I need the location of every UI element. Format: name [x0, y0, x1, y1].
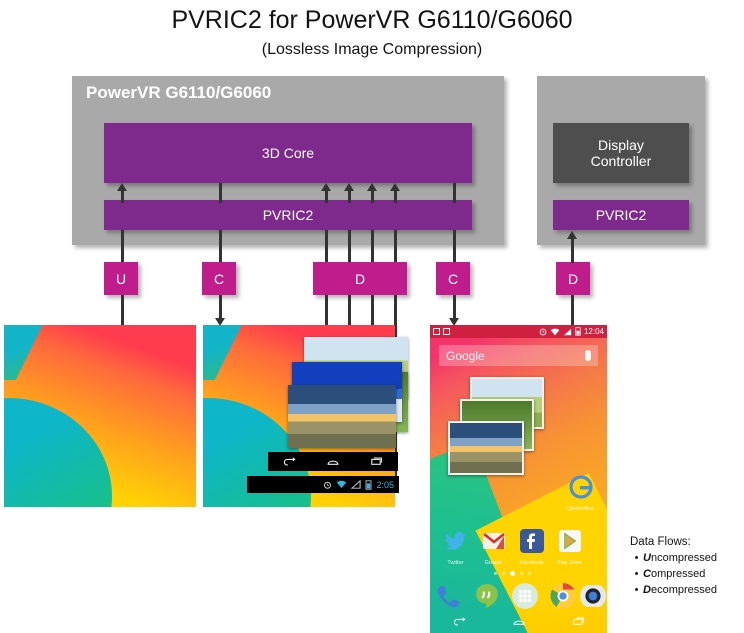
- back-icon[interactable]: [283, 456, 297, 467]
- battery-icon: [365, 480, 372, 490]
- arrowhead-core-d2: [344, 183, 354, 191]
- app-facebook[interactable]: Facebook: [518, 529, 545, 566]
- tablet-nav-bar[interactable]: [268, 452, 398, 471]
- mail-icon: [443, 328, 450, 335]
- arrowhead-core-d1: [321, 183, 331, 191]
- microphone-icon[interactable]: [585, 350, 591, 361]
- page-subtitle: (Lossless Image Compression): [0, 41, 744, 59]
- phone-status-notifications: [433, 328, 450, 335]
- connector-d2-down: [348, 230, 351, 262]
- chrome-icon[interactable]: [550, 583, 576, 609]
- block-display-controller[interactable]: Display Controller: [553, 123, 689, 183]
- arrowhead-core-u: [117, 183, 127, 191]
- flow-badge-d2[interactable]: D: [556, 262, 590, 295]
- flow-badge-c2-label: C: [448, 271, 458, 287]
- flow-badge-d1-label: D: [355, 271, 365, 287]
- legend-initial-u: U: [643, 552, 651, 564]
- flow-badge-u[interactable]: U: [104, 262, 138, 295]
- play-store-icon: [558, 529, 582, 553]
- arrowhead-core-d4: [390, 183, 400, 191]
- connector-d2-display: [571, 239, 574, 263]
- connector-c2-down: [453, 230, 456, 262]
- page-dot: [520, 572, 523, 575]
- flow-badge-d1[interactable]: D: [313, 262, 407, 295]
- flow-badge-u-label: U: [116, 271, 126, 287]
- block-pvric2-display[interactable]: PVRIC2: [553, 200, 689, 230]
- legend-rest-d: ecompressed: [651, 584, 717, 596]
- connector-d1-down: [325, 230, 328, 262]
- page-dot-active: [510, 571, 515, 576]
- page-dot: [502, 572, 505, 575]
- legend-bullet: •: [630, 582, 643, 598]
- legend: Data Flows: • Uncompressed • Compressed …: [630, 536, 744, 598]
- connector-core-d3: [371, 191, 374, 203]
- app-twitter-label: Twitter: [442, 560, 469, 566]
- signal-icon: [351, 480, 361, 489]
- legend-item-compressed: • Compressed: [630, 566, 744, 582]
- arrowhead-core-d3: [367, 183, 377, 191]
- wifi-icon: [336, 480, 347, 489]
- flow-badge-c1[interactable]: C: [202, 262, 236, 295]
- block-pvric2-display-label: PVRIC2: [596, 207, 647, 223]
- soc-label: PowerVR G6110/G6060: [86, 83, 271, 103]
- block-3d-core-label: 3D Core: [262, 145, 314, 161]
- alarm-icon: [323, 480, 332, 489]
- alarm-icon: [539, 328, 547, 336]
- wifi-icon: [550, 328, 560, 336]
- phone-status-icons: 12:04: [539, 327, 604, 336]
- connector-core-c2: [453, 183, 456, 203]
- signal-icon: [563, 328, 572, 336]
- home-icon[interactable]: [512, 616, 526, 627]
- camera-icon[interactable]: [580, 583, 606, 609]
- page-dot: [494, 572, 497, 575]
- home-icon[interactable]: [326, 456, 340, 467]
- diagram-canvas: PVRIC2 for PowerVR G6110/G6060 (Lossless…: [0, 0, 744, 633]
- connector-d2-phone: [571, 295, 574, 325]
- block-3d-core[interactable]: 3D Core: [104, 123, 472, 183]
- tablet-status-time: 2:05: [376, 480, 394, 490]
- facebook-icon: [520, 529, 544, 553]
- quickoffice-icon: [569, 475, 593, 499]
- connector-u-down: [121, 230, 124, 262]
- app-drawer-icon[interactable]: [512, 583, 538, 609]
- legend-initial-d: D: [643, 584, 651, 596]
- google-search-label: Google: [446, 349, 485, 363]
- connector-core-u: [121, 191, 124, 203]
- phone-nav-bar[interactable]: [430, 609, 607, 633]
- twitter-icon: [444, 529, 468, 553]
- connector-core-d1: [325, 191, 328, 203]
- app-twitter[interactable]: Twitter: [442, 529, 469, 566]
- battery-icon: [575, 327, 581, 336]
- connector-u-device: [121, 295, 124, 327]
- legend-bullet: •: [630, 550, 643, 566]
- phone-home-screen[interactable]: 12:04 Google Quickoffice Twitter: [430, 325, 607, 633]
- connector-c2-device: [453, 295, 456, 318]
- app-google[interactable]: Google: [480, 529, 507, 566]
- connector-c1-device: [219, 295, 222, 318]
- tablet-status-bar: 2:05: [247, 476, 399, 493]
- connector-d4-down: [394, 230, 397, 262]
- app-google-label: Google: [480, 560, 507, 566]
- tablet-left-wallpaper: [4, 325, 196, 507]
- flow-badge-d2-label: D: [568, 271, 578, 287]
- page-dot: [528, 572, 531, 575]
- page-indicator-dots: [494, 571, 531, 576]
- phone-icon[interactable]: [436, 583, 462, 609]
- block-display-controller-label: Display Controller: [591, 137, 652, 169]
- flow-badge-c2[interactable]: C: [436, 262, 470, 295]
- app-play-store[interactable]: Play Store: [556, 529, 583, 566]
- tablet-uncompressed[interactable]: [4, 325, 196, 507]
- google-search-bar[interactable]: Google: [439, 345, 598, 366]
- recents-icon[interactable]: [369, 456, 383, 467]
- legend-bullet: •: [630, 566, 643, 582]
- connector-core-d4: [394, 191, 397, 203]
- block-pvric2-soc[interactable]: PVRIC2: [104, 200, 472, 230]
- block-pvric2-soc-label: PVRIC2: [263, 207, 314, 223]
- phone-status-time: 12:04: [584, 327, 604, 336]
- connector-c1-down: [219, 230, 222, 262]
- legend-item-decompressed: • Decompressed: [630, 582, 744, 598]
- app-play-store-label: Play Store: [556, 560, 583, 566]
- flow-badge-c1-label: C: [214, 271, 224, 287]
- gmail-icon: [482, 529, 506, 553]
- connector-d3-down: [371, 230, 374, 262]
- page-title: PVRIC2 for PowerVR G6110/G6060: [0, 6, 744, 35]
- back-icon[interactable]: [453, 616, 467, 627]
- recents-icon[interactable]: [571, 616, 585, 627]
- calendar-icon: [433, 328, 440, 335]
- app-facebook-label: Facebook: [518, 560, 545, 566]
- legend-title: Data Flows:: [630, 536, 744, 548]
- hangouts-icon[interactable]: [474, 583, 500, 609]
- legend-rest-u: ncompressed: [651, 552, 717, 564]
- app-quickoffice[interactable]: Quickoffice: [567, 475, 594, 512]
- phone-photo-card-3[interactable]: [448, 421, 524, 475]
- legend-initial-c: C: [643, 568, 651, 580]
- connector-core-c1: [219, 183, 222, 203]
- photo-card-3[interactable]: [288, 385, 396, 448]
- legend-item-uncompressed: • Uncompressed: [630, 550, 744, 566]
- app-quickoffice-label: Quickoffice: [567, 506, 594, 512]
- connector-core-d2: [348, 191, 351, 203]
- phone-status-bar: 12:04: [430, 325, 607, 338]
- legend-rest-c: ompressed: [651, 568, 705, 580]
- arrowhead-d2-display: [567, 231, 577, 239]
